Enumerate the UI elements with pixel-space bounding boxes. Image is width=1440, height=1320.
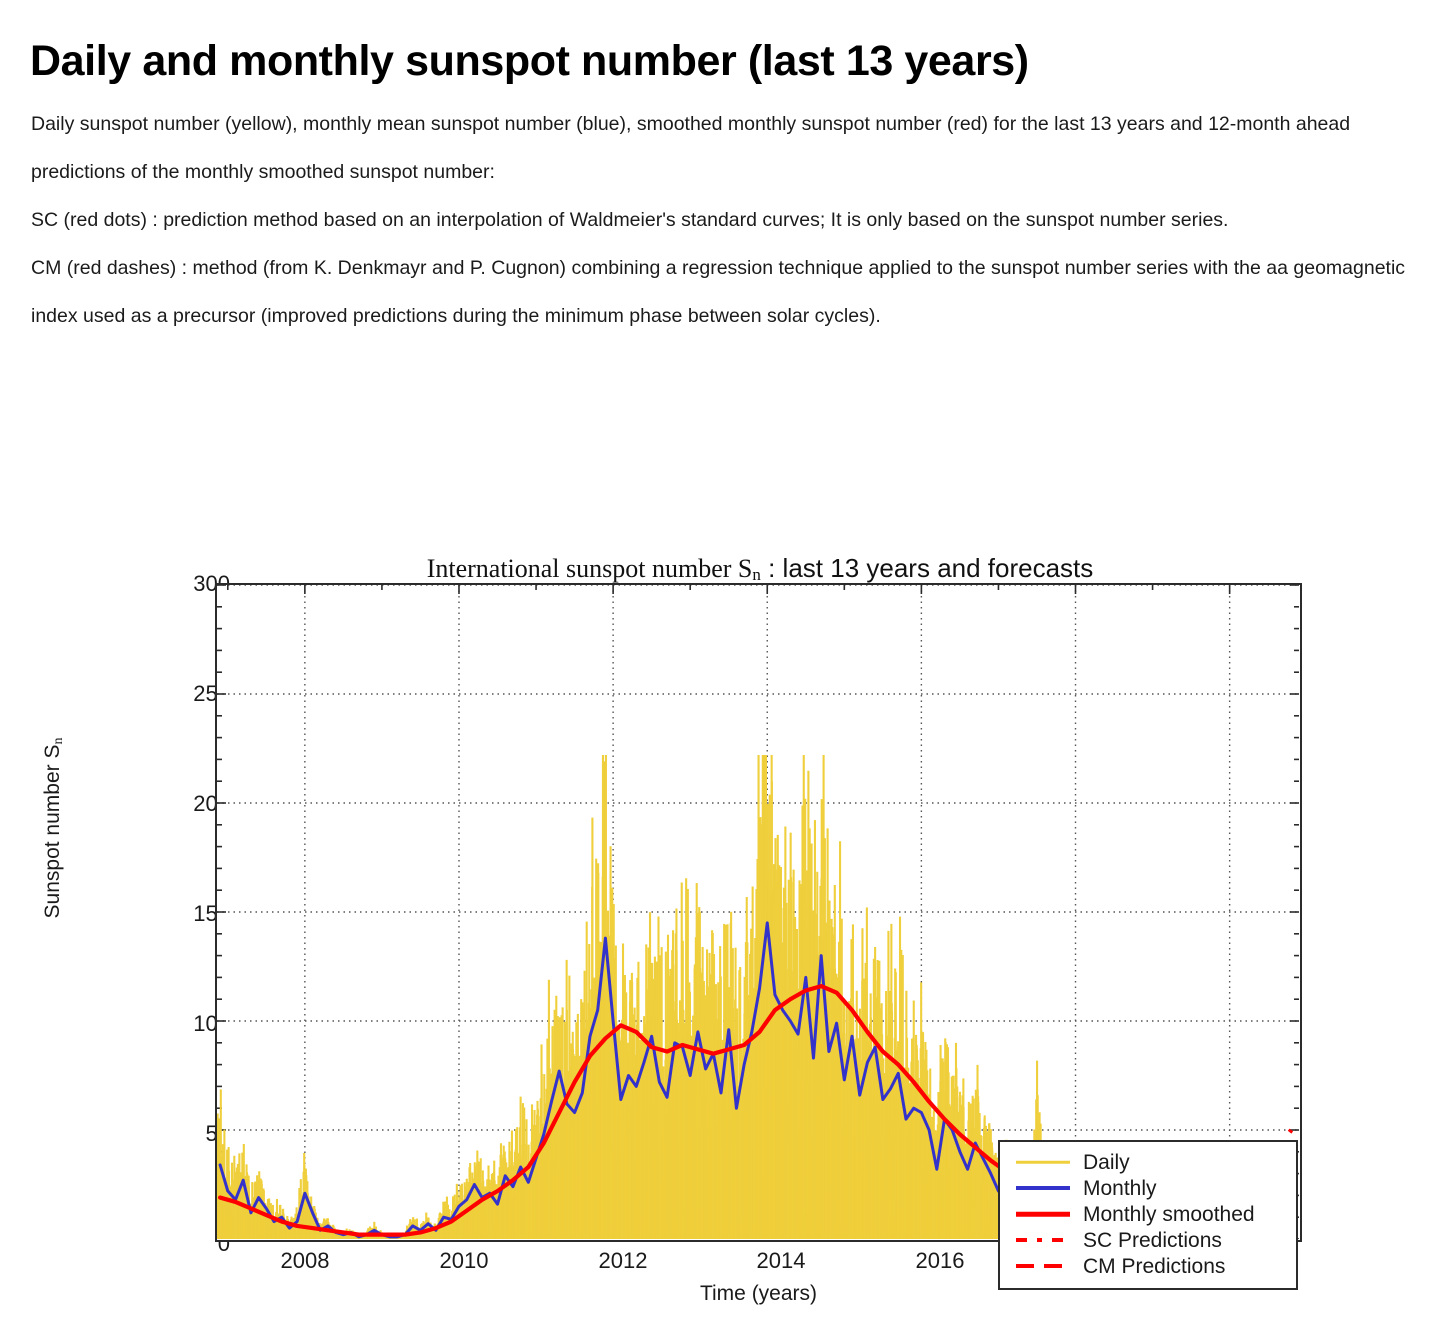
y-axis-title: Sunspot number Sn (41, 708, 67, 948)
legend-swatch-monthly-smoothed (1012, 1205, 1074, 1223)
chart-legend: Daily Monthly Monthly smoothed SC Predic… (998, 1140, 1298, 1290)
description-paragraph-2: SC (red dots) : prediction method based … (31, 196, 1431, 244)
legend-item-cm-predictions: CM Predictions (1012, 1253, 1284, 1279)
sunspot-page: Daily and monthly sunspot number (last 1… (0, 0, 1440, 1317)
legend-item-monthly: Monthly (1012, 1175, 1284, 1201)
legend-swatch-monthly (1012, 1179, 1074, 1197)
chart-title-rest: : last 13 years and forecasts (761, 553, 1093, 583)
description-paragraph-3: CM (red dashes) : method (from K. Denkma… (31, 244, 1431, 340)
legend-item-sc-predictions: SC Predictions (1012, 1227, 1284, 1253)
legend-swatch-cm-predictions (1012, 1257, 1074, 1275)
xtick-label-2016: 2016 (890, 1250, 990, 1272)
chart-title-subscript: n (752, 565, 761, 584)
legend-label-monthly-smoothed: Monthly smoothed (1083, 1204, 1255, 1225)
legend-item-monthly-smoothed: Monthly smoothed (1012, 1201, 1284, 1227)
y-axis-title-text: Sunspot number S (41, 745, 64, 919)
legend-label-daily: Daily (1083, 1152, 1130, 1173)
legend-label-sc-predictions: SC Predictions (1083, 1230, 1222, 1251)
legend-swatch-daily (1012, 1153, 1074, 1171)
xtick-label-2010: 2010 (414, 1250, 514, 1272)
chart-title-main: International sunspot number S (427, 554, 753, 583)
y-axis-title-subscript: n (51, 738, 66, 745)
legend-item-daily: Daily (1012, 1149, 1284, 1175)
description-paragraph-1: Daily sunspot number (yellow), monthly m… (31, 100, 1431, 196)
legend-label-monthly: Monthly (1083, 1178, 1157, 1199)
xtick-label-2014: 2014 (731, 1250, 831, 1272)
xtick-label-2012: 2012 (573, 1250, 673, 1272)
sunspot-chart-figure: International sunspot number Sn : last 1… (0, 540, 1440, 1320)
description-block: Daily sunspot number (yellow), monthly m… (31, 100, 1431, 340)
page-title: Daily and monthly sunspot number (last 1… (30, 37, 1420, 86)
chart-title: International sunspot number Sn : last 1… (215, 553, 1305, 585)
xtick-label-2008: 2008 (255, 1250, 355, 1272)
legend-label-cm-predictions: CM Predictions (1083, 1256, 1225, 1277)
legend-swatch-sc-predictions (1012, 1231, 1074, 1249)
